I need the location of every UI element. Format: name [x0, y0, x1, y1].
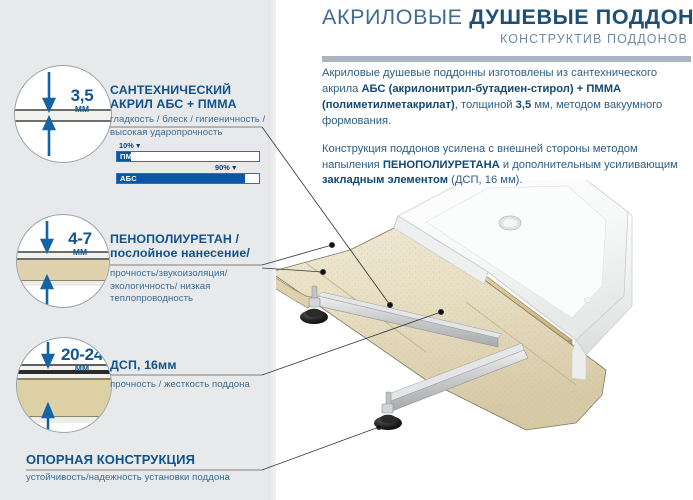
chipboard-thickness-unit: ММ: [54, 364, 110, 372]
p2-bold-2: закладным элементом: [322, 174, 448, 186]
foam-label-title: ПЕНОПОЛИУРЕТАН /послойное нанесение/: [110, 232, 275, 261]
chipboard-label-subtitle: прочность / жесткость поддона: [110, 379, 270, 392]
page-title-thin: АКРИЛОВЫЕ: [322, 5, 463, 29]
pmma-bar: ПММА: [116, 151, 260, 162]
page-title-bold: ДУШЕВЫЕ ПОДДОНЫ: [469, 5, 693, 29]
page-title: АКРИЛОВЫЕ ДУШЕВЫЕ ПОДДОНЫ: [322, 6, 688, 29]
acrylic-label-subtitle: гладкость / блеск / гигиеничность /высок…: [110, 114, 270, 139]
header-divider: [322, 56, 691, 62]
support-label-title: ОПОРНАЯ КОНСТРУКЦИЯ: [26, 452, 256, 467]
acrylic-cross-section-circle: 3,5 ММ: [14, 65, 112, 163]
foam-thickness-unit: ММ: [57, 248, 103, 256]
p1-text-2: , толщиной: [455, 99, 516, 111]
abs-percent-label: 90%▼: [215, 163, 238, 172]
thickness-arrows-acrylic: [15, 66, 111, 162]
pmma-percent-value: 10%: [119, 141, 134, 150]
p2-text-3: (ДСП, 16 мм).: [448, 174, 523, 186]
chipboard-label-title: ДСП, 16мм: [110, 358, 275, 372]
pmma-percent-label: 10%▼: [119, 141, 142, 150]
page-header: АКРИЛОВЫЕ ДУШЕВЫЕ ПОДДОНЫ КОНСТРУКТИВ ПО…: [322, 6, 688, 46]
foam-label-subtitle: прочность/звукоизоляция/ экологичность/ …: [110, 268, 260, 306]
caret-down-icon: ▼: [135, 143, 142, 150]
acrylic-thickness-label: 3,5 ММ: [59, 88, 105, 113]
foam-thickness-label: 4-7 ММ: [57, 231, 103, 256]
p2-bold-1: ПЕНОПОЛИУРЕТАНА: [383, 159, 500, 171]
caret-down-icon: ▼: [231, 165, 238, 172]
poster-root: 3,5 ММ САНТЕХНИЧЕСКИЙ АКРИЛ АБС + ПММА г…: [0, 0, 693, 500]
acrylic-thickness-unit: ММ: [59, 105, 105, 113]
foam-thickness-value: 4-7: [57, 231, 103, 247]
chipboard-thickness-value: 20-24: [54, 347, 110, 363]
abs-bar: АБС: [116, 173, 260, 184]
chipboard-thickness-label: 20-24 ММ: [54, 347, 110, 372]
p2-text-2: и дополнительным усиливающим: [500, 159, 678, 171]
support-label-subtitle: устойчивость/надежность установки поддон…: [26, 472, 266, 485]
page-subtitle: КОНСТРУКТИВ ПОДДОНОВ: [322, 32, 688, 46]
chipboard-cross-section-circle: 20-24 ММ: [16, 337, 112, 433]
abs-bar-name: АБС: [120, 174, 137, 183]
acrylic-thickness-value: 3,5: [59, 88, 105, 104]
thickness-arrows-foam: [17, 215, 109, 307]
description-paragraph-2: Конструкция поддонов усилена с внешней с…: [322, 142, 684, 190]
p1-bold-2: 3,5: [516, 99, 532, 111]
description-paragraph-1: Акриловые душевые поддонны изготовлены и…: [322, 66, 684, 130]
abs-percent-value: 90%: [215, 163, 230, 172]
pmma-bar-name: ПММА: [120, 152, 144, 161]
acrylic-label-title: САНТЕХНИЧЕСКИЙ АКРИЛ АБС + ПММА: [110, 83, 275, 112]
foam-cross-section-circle: 4-7 ММ: [16, 214, 110, 308]
description-text: Акриловые душевые поддонны изготовлены и…: [322, 66, 684, 201]
